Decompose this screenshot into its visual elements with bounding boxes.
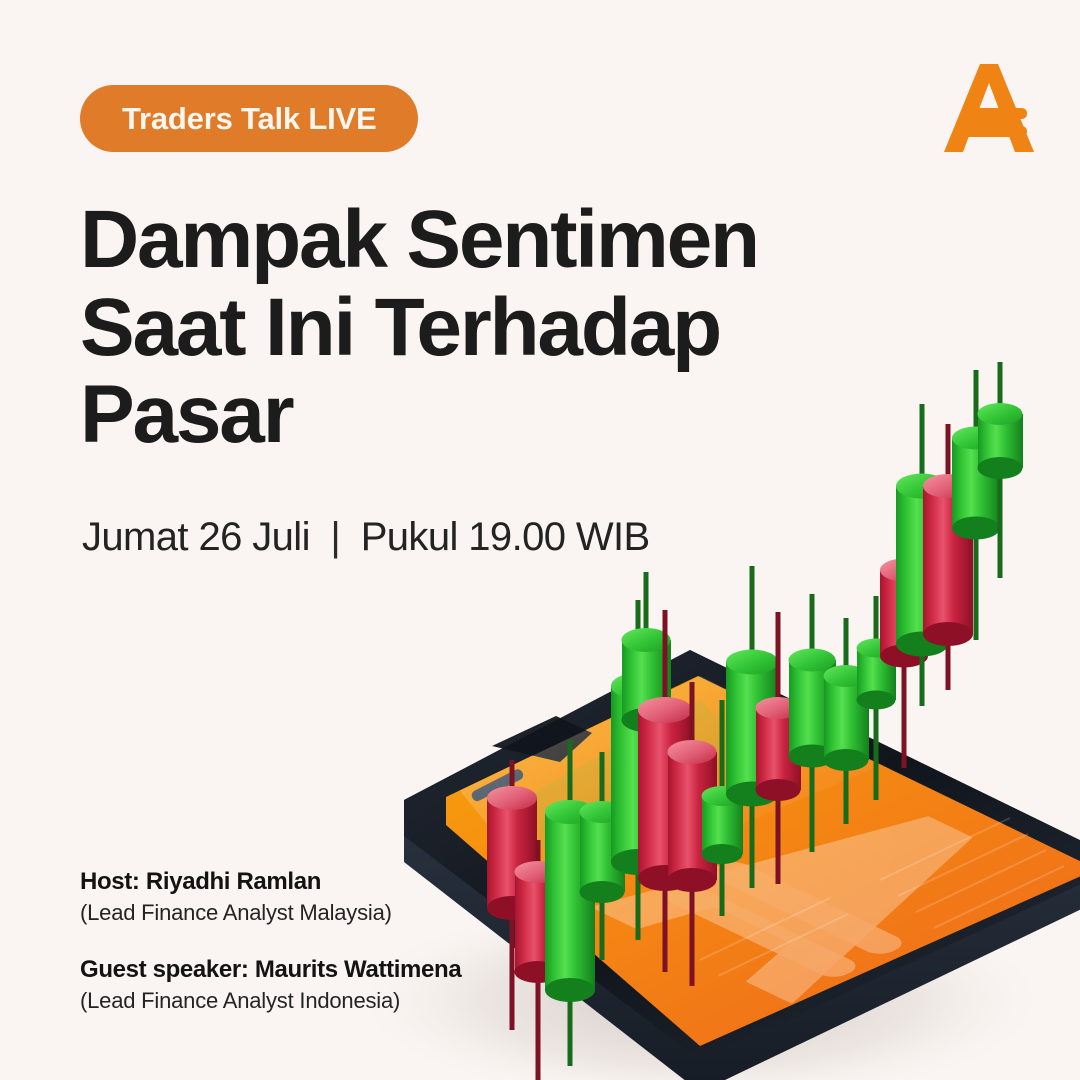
- event-date: Jumat 26 Juli: [82, 515, 310, 559]
- page-title: Dampak Sentimen Saat Ini Terhadap Pasar: [80, 196, 840, 459]
- guest-role: (Lead Finance Analyst Indonesia): [80, 986, 461, 1015]
- headline-line-3: Pasar: [80, 371, 840, 459]
- live-badge[interactable]: Traders Talk LIVE: [80, 85, 418, 152]
- candle-19-bullish: [978, 362, 1024, 578]
- event-schedule: Jumat 26 Juli | Pukul 19.00 WIB: [82, 515, 650, 560]
- guest-name: Guest speaker: Maurits Wattimena: [80, 954, 461, 986]
- host-name: Host: Riyadhi Ramlan: [80, 866, 461, 898]
- host-credit: Host: Riyadhi Ramlan (Lead Finance Analy…: [80, 866, 461, 928]
- speaker-credits: Host: Riyadhi Ramlan (Lead Finance Analy…: [80, 866, 461, 1015]
- headline-line-2: Saat Ini Terhadap: [80, 284, 840, 372]
- event-time: Pukul 19.00 WIB: [361, 515, 650, 559]
- host-role: (Lead Finance Analyst Malaysia): [80, 898, 461, 927]
- headline-line-1: Dampak Sentimen: [80, 196, 840, 284]
- promo-poster: Traders Talk LIVE Dampak Sentimen Saat I…: [0, 0, 1080, 1080]
- schedule-separator: |: [330, 515, 340, 559]
- guest-credit: Guest speaker: Maurits Wattimena (Lead F…: [80, 954, 461, 1016]
